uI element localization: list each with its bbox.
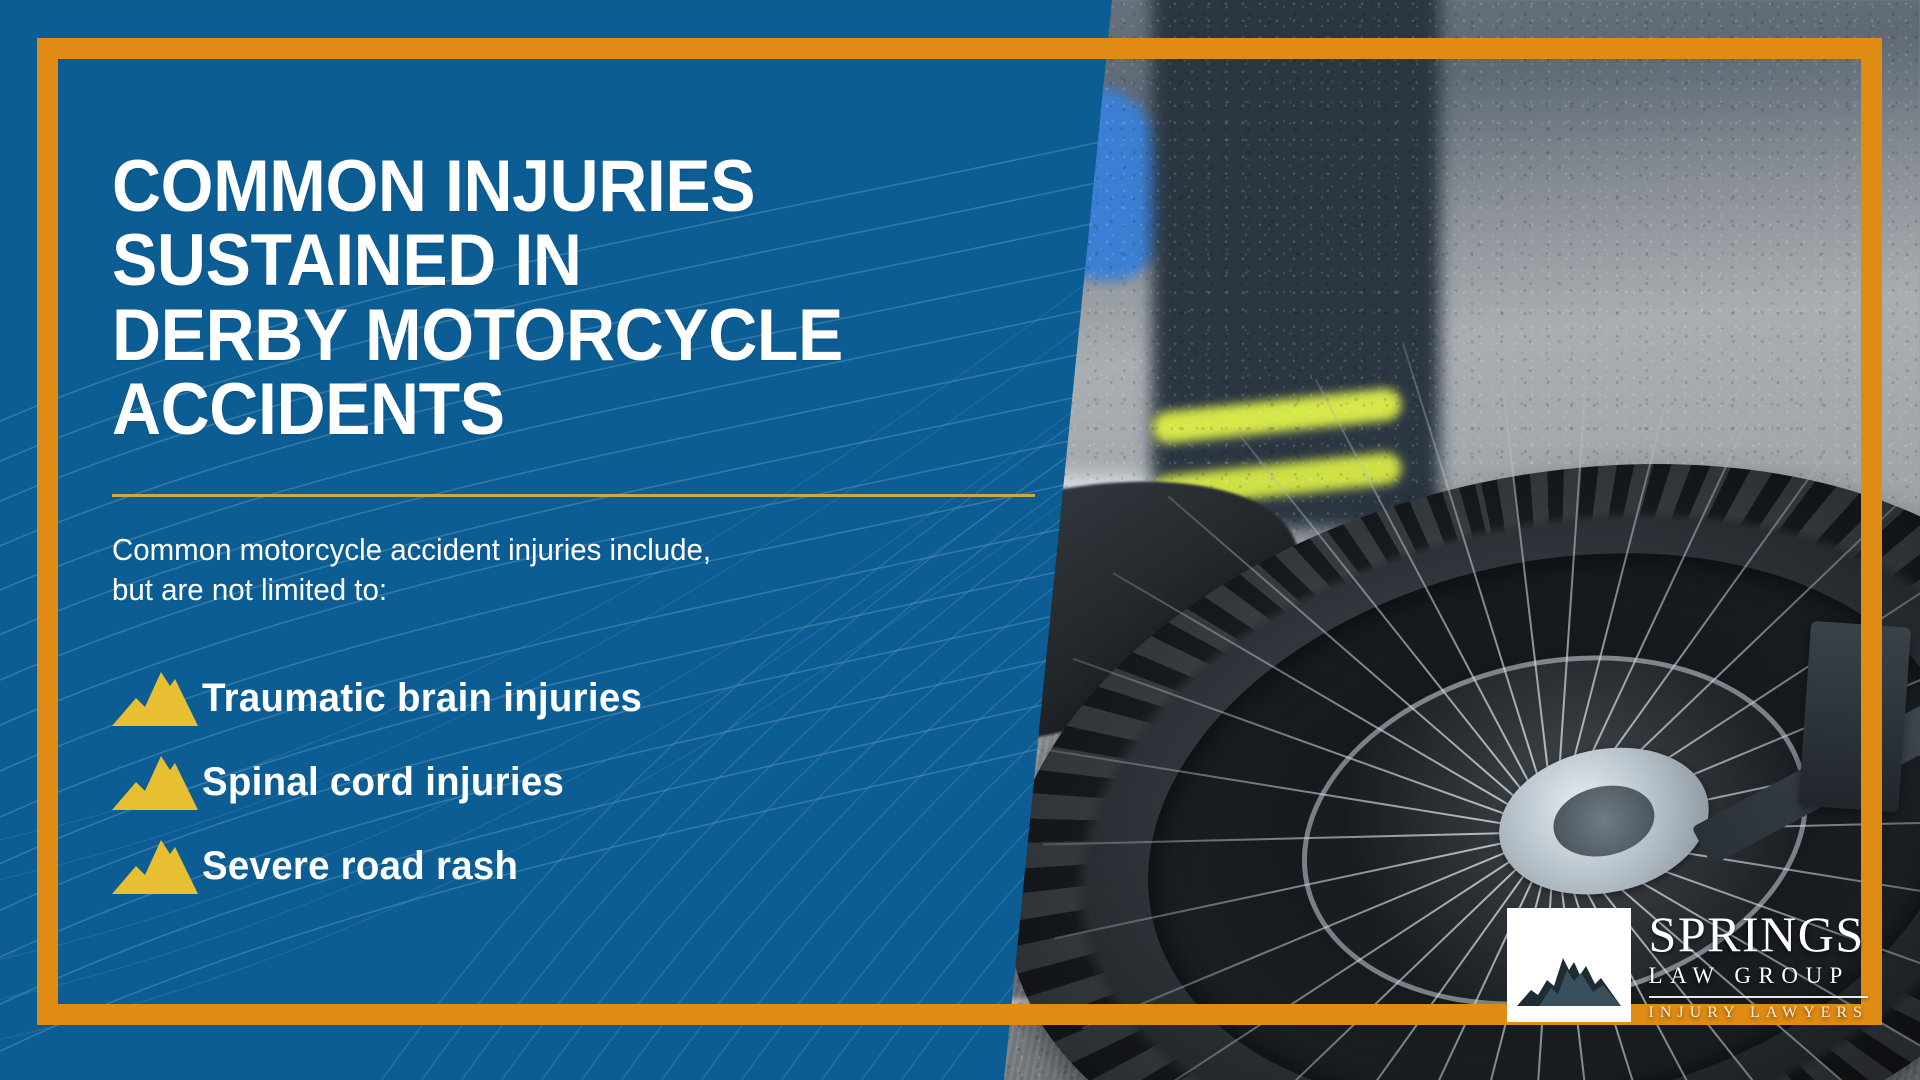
mountain-logo-icon	[1507, 908, 1631, 1022]
content-block: COMMON INJURIES SUSTAINED IN DERBY MOTOR…	[112, 150, 1032, 908]
list-item-label: Spinal cord injuries	[202, 760, 564, 805]
list-item: Spinal cord injuries	[112, 740, 1032, 824]
list-item: Traumatic brain injuries	[112, 656, 1032, 740]
logo-rule	[1649, 996, 1868, 998]
logo-wordmark: SPRINGS LAW GROUP INJURY LAWYERS	[1631, 908, 1868, 1022]
injury-list: Traumatic brain injuries Spinal cord inj…	[112, 656, 1032, 908]
mountain-icon	[112, 754, 202, 810]
motorcycle-fork	[1799, 621, 1912, 813]
logo-subtitle: LAW GROUP	[1649, 963, 1868, 989]
mountain-icon	[112, 838, 202, 894]
logo-name: SPRINGS	[1649, 909, 1868, 959]
subtitle-text: Common motorcycle accident injuries incl…	[112, 530, 986, 611]
mountain-icon	[112, 670, 202, 726]
gold-divider	[112, 494, 1035, 497]
list-item: Severe road rash	[112, 824, 1032, 908]
list-item-label: Severe road rash	[202, 844, 518, 889]
page-title: COMMON INJURIES SUSTAINED IN DERBY MOTOR…	[112, 150, 968, 448]
logo-tagline: INJURY LAWYERS	[1649, 1004, 1868, 1022]
list-item-label: Traumatic brain injuries	[202, 676, 642, 721]
springs-law-group-logo: SPRINGS LAW GROUP INJURY LAWYERS	[1507, 908, 1868, 1022]
